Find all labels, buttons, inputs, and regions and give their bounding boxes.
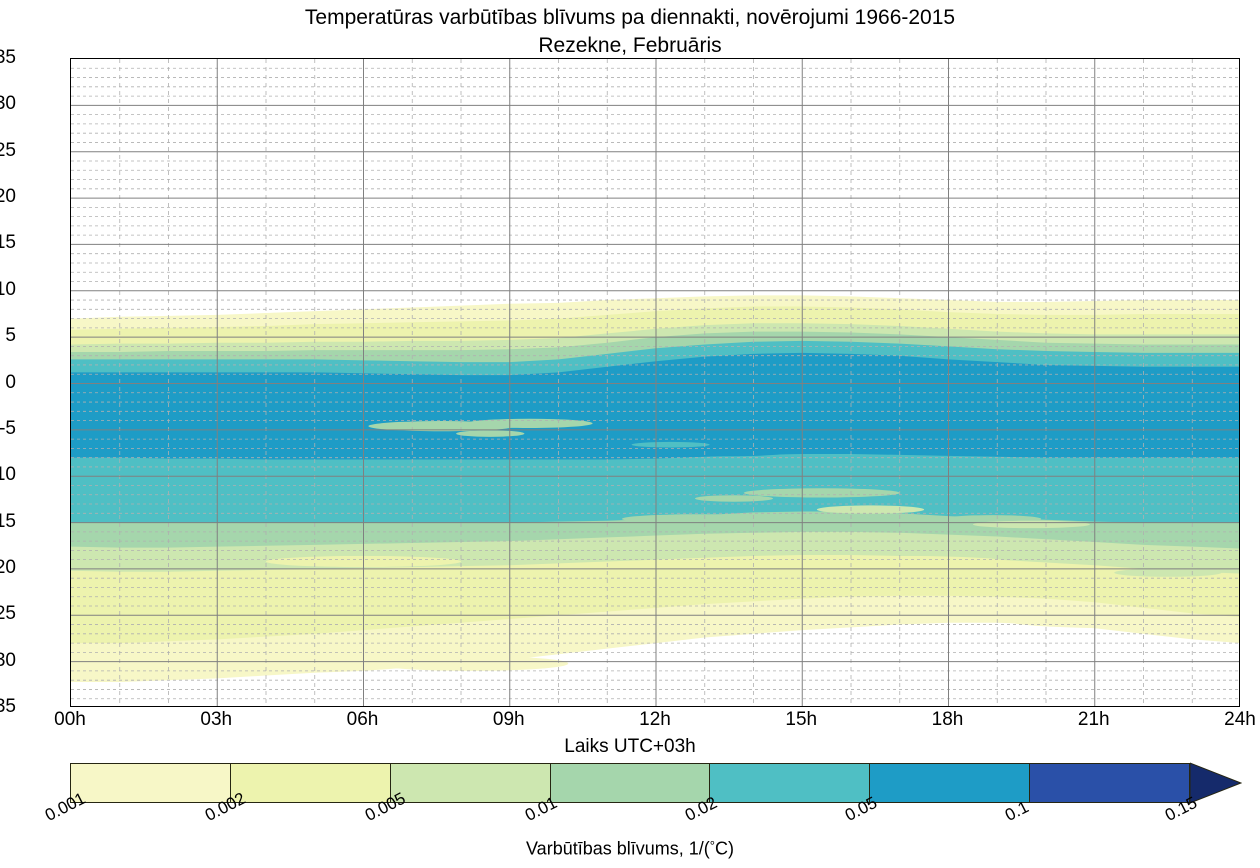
y-tick-label: -20 bbox=[0, 558, 16, 577]
colorbar-segment-0.002 bbox=[231, 764, 391, 802]
contour-blob bbox=[632, 442, 710, 448]
colorbar-segment-0.1 bbox=[1030, 764, 1189, 802]
x-tick-label: 09h bbox=[469, 710, 549, 729]
colorbar-segment-0.05 bbox=[870, 764, 1030, 802]
plot-area bbox=[70, 58, 1240, 707]
contour-blob bbox=[149, 648, 403, 665]
chart-title: Temperatūras varbūtības blīvums pa dienn… bbox=[0, 4, 1260, 60]
colorbar-segment-0.01 bbox=[551, 764, 711, 802]
y-tick-label: -5 bbox=[0, 419, 16, 438]
colorbar-extend-arrow bbox=[1190, 762, 1242, 804]
y-tick-label: 25 bbox=[0, 141, 16, 160]
x-tick-label: 06h bbox=[323, 710, 403, 729]
colorbar-segment-0.02 bbox=[710, 764, 870, 802]
x-tick-label: 15h bbox=[761, 710, 841, 729]
contour-blob bbox=[793, 556, 1008, 567]
contour-blob bbox=[705, 360, 920, 371]
x-tick-label: 18h bbox=[908, 710, 988, 729]
contour-blob bbox=[442, 581, 676, 594]
colorbar-segment-0.001 bbox=[71, 764, 231, 802]
x-axis-label: Laiks UTC+03h bbox=[0, 736, 1260, 758]
contour-blob bbox=[466, 419, 593, 428]
y-tick-label: -15 bbox=[0, 512, 16, 531]
contour-layer bbox=[71, 59, 1240, 707]
contour-blob bbox=[266, 556, 461, 567]
contour-blob bbox=[510, 522, 647, 530]
chart-title-line2: Rezekne, Februāris bbox=[0, 32, 1260, 60]
contour-blob bbox=[622, 514, 778, 523]
colorbar-tick-label: 0.001 bbox=[42, 789, 89, 826]
plot-frame bbox=[70, 58, 1240, 707]
colorbar-caption: Varbūtības blīvums, 1/(°C) bbox=[0, 838, 1260, 860]
y-tick-label: 10 bbox=[0, 280, 16, 299]
x-tick-label: 21h bbox=[1054, 710, 1134, 729]
y-tick-label: 20 bbox=[0, 187, 16, 206]
colorbar-segment-0.005 bbox=[391, 764, 551, 802]
contour-blob bbox=[1114, 568, 1221, 576]
colorbar-caption-prefix: Varbūtības blīvums, 1/( bbox=[526, 839, 710, 859]
contour-blob bbox=[1007, 613, 1240, 628]
y-tick-label: -25 bbox=[0, 604, 16, 623]
contour-blob bbox=[744, 488, 900, 497]
y-tick-label: 30 bbox=[0, 94, 16, 113]
y-tick-label: -10 bbox=[0, 465, 16, 484]
y-tick-label: -35 bbox=[0, 697, 16, 716]
y-tick-label: 5 bbox=[0, 326, 16, 345]
contour-blob bbox=[130, 585, 345, 598]
contour-blob bbox=[320, 446, 369, 454]
colorbar-caption-suffix: C) bbox=[715, 839, 734, 859]
contour-blob bbox=[1036, 581, 1173, 590]
contour-blob bbox=[695, 495, 773, 502]
chart-title-line1: Temperatūras varbūtības blīvums pa dienn… bbox=[0, 4, 1260, 32]
y-tick-label: -30 bbox=[0, 651, 16, 670]
x-tick-label: 03h bbox=[176, 710, 256, 729]
contour-blob bbox=[456, 430, 524, 437]
y-tick-label: 35 bbox=[0, 48, 16, 67]
contour-blob bbox=[656, 448, 793, 456]
contour-blob bbox=[373, 656, 568, 671]
contour-blob bbox=[134, 449, 222, 456]
x-tick-label: 24h bbox=[1200, 710, 1260, 729]
x-tick-label: 00h bbox=[30, 710, 110, 729]
y-tick-label: 0 bbox=[0, 373, 16, 392]
y-tick-label: 15 bbox=[0, 233, 16, 252]
x-tick-label: 12h bbox=[615, 710, 695, 729]
colorbar-arrow-shape bbox=[1190, 763, 1241, 803]
contour-blob bbox=[817, 505, 924, 513]
colorbar bbox=[70, 763, 1240, 803]
contour-blob bbox=[973, 521, 1090, 528]
